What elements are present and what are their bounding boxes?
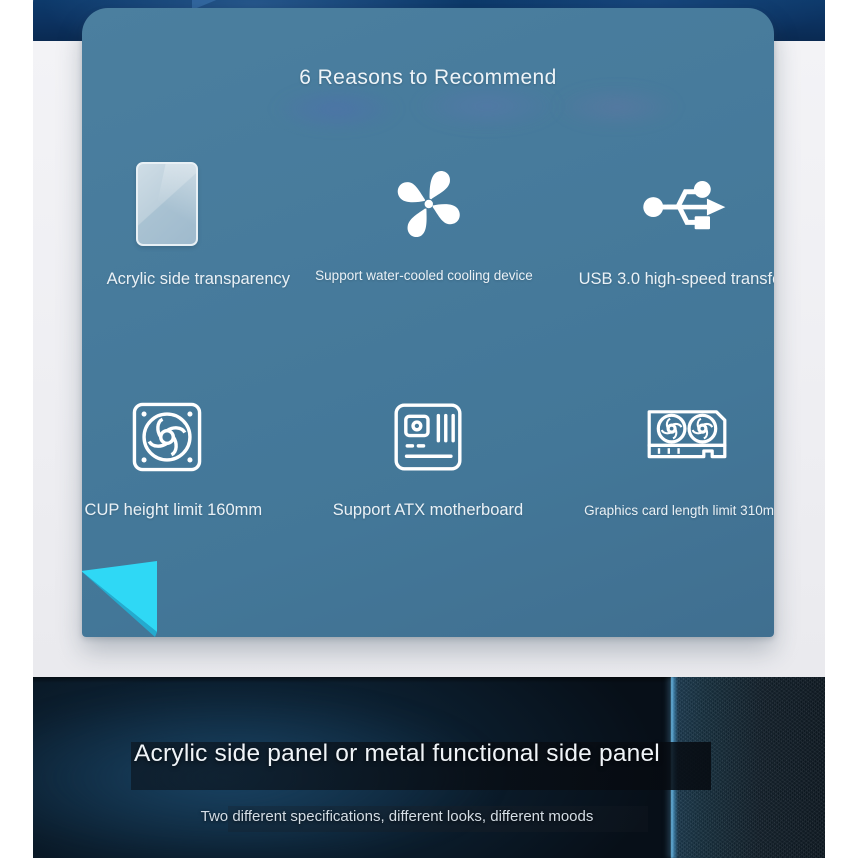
cooling-fan-icon [389, 158, 467, 250]
acrylic-panel-icon [136, 158, 198, 250]
usb-icon [641, 158, 733, 250]
feature-item-gpu-length[interactable]: Graphics card length limit 310mm [543, 391, 774, 520]
motherboard-icon [391, 391, 465, 483]
feature-item-acrylic[interactable]: Acrylic side transparency [82, 158, 313, 287]
feature-label: USB 3.0 high-speed transfer [579, 270, 774, 289]
corner-ribbon-icon [82, 549, 201, 637]
product-detail-page: 6 Reasons to Recommend Acrylic side tran… [0, 0, 858, 858]
feature-item-water-cooling[interactable]: Support water-cooled cooling device [313, 158, 544, 287]
banner-title: Acrylic side panel or metal functional s… [0, 740, 794, 768]
feature-label: Support ATX motherboard [333, 501, 523, 520]
graphics-card-icon [643, 391, 731, 483]
features-card: 6 Reasons to Recommend Acrylic side tran… [82, 8, 774, 637]
feature-item-cpu-height[interactable]: CUP height limit 160mm [82, 391, 313, 520]
right-margin [825, 0, 858, 858]
card-title: 6 Reasons to Recommend [82, 66, 774, 90]
feature-label: CUP height limit 160mm [85, 501, 263, 520]
feature-label: Graphics card length limit 310mm [584, 503, 774, 518]
card-glow-right [552, 86, 682, 128]
card-glow-left [272, 86, 402, 132]
banner-subtitle: Two different specifications, different … [0, 808, 794, 825]
feature-grid: Acrylic side transparency Sup [82, 158, 774, 520]
feature-label: Acrylic side transparency [107, 270, 290, 289]
left-margin [0, 0, 33, 858]
feature-item-usb[interactable]: USB 3.0 high-speed transfer [543, 158, 774, 287]
cpu-cooler-fan-icon [130, 391, 204, 483]
feature-label: Support water-cooled cooling device [315, 268, 533, 283]
feature-item-motherboard[interactable]: Support ATX motherboard [313, 391, 544, 520]
